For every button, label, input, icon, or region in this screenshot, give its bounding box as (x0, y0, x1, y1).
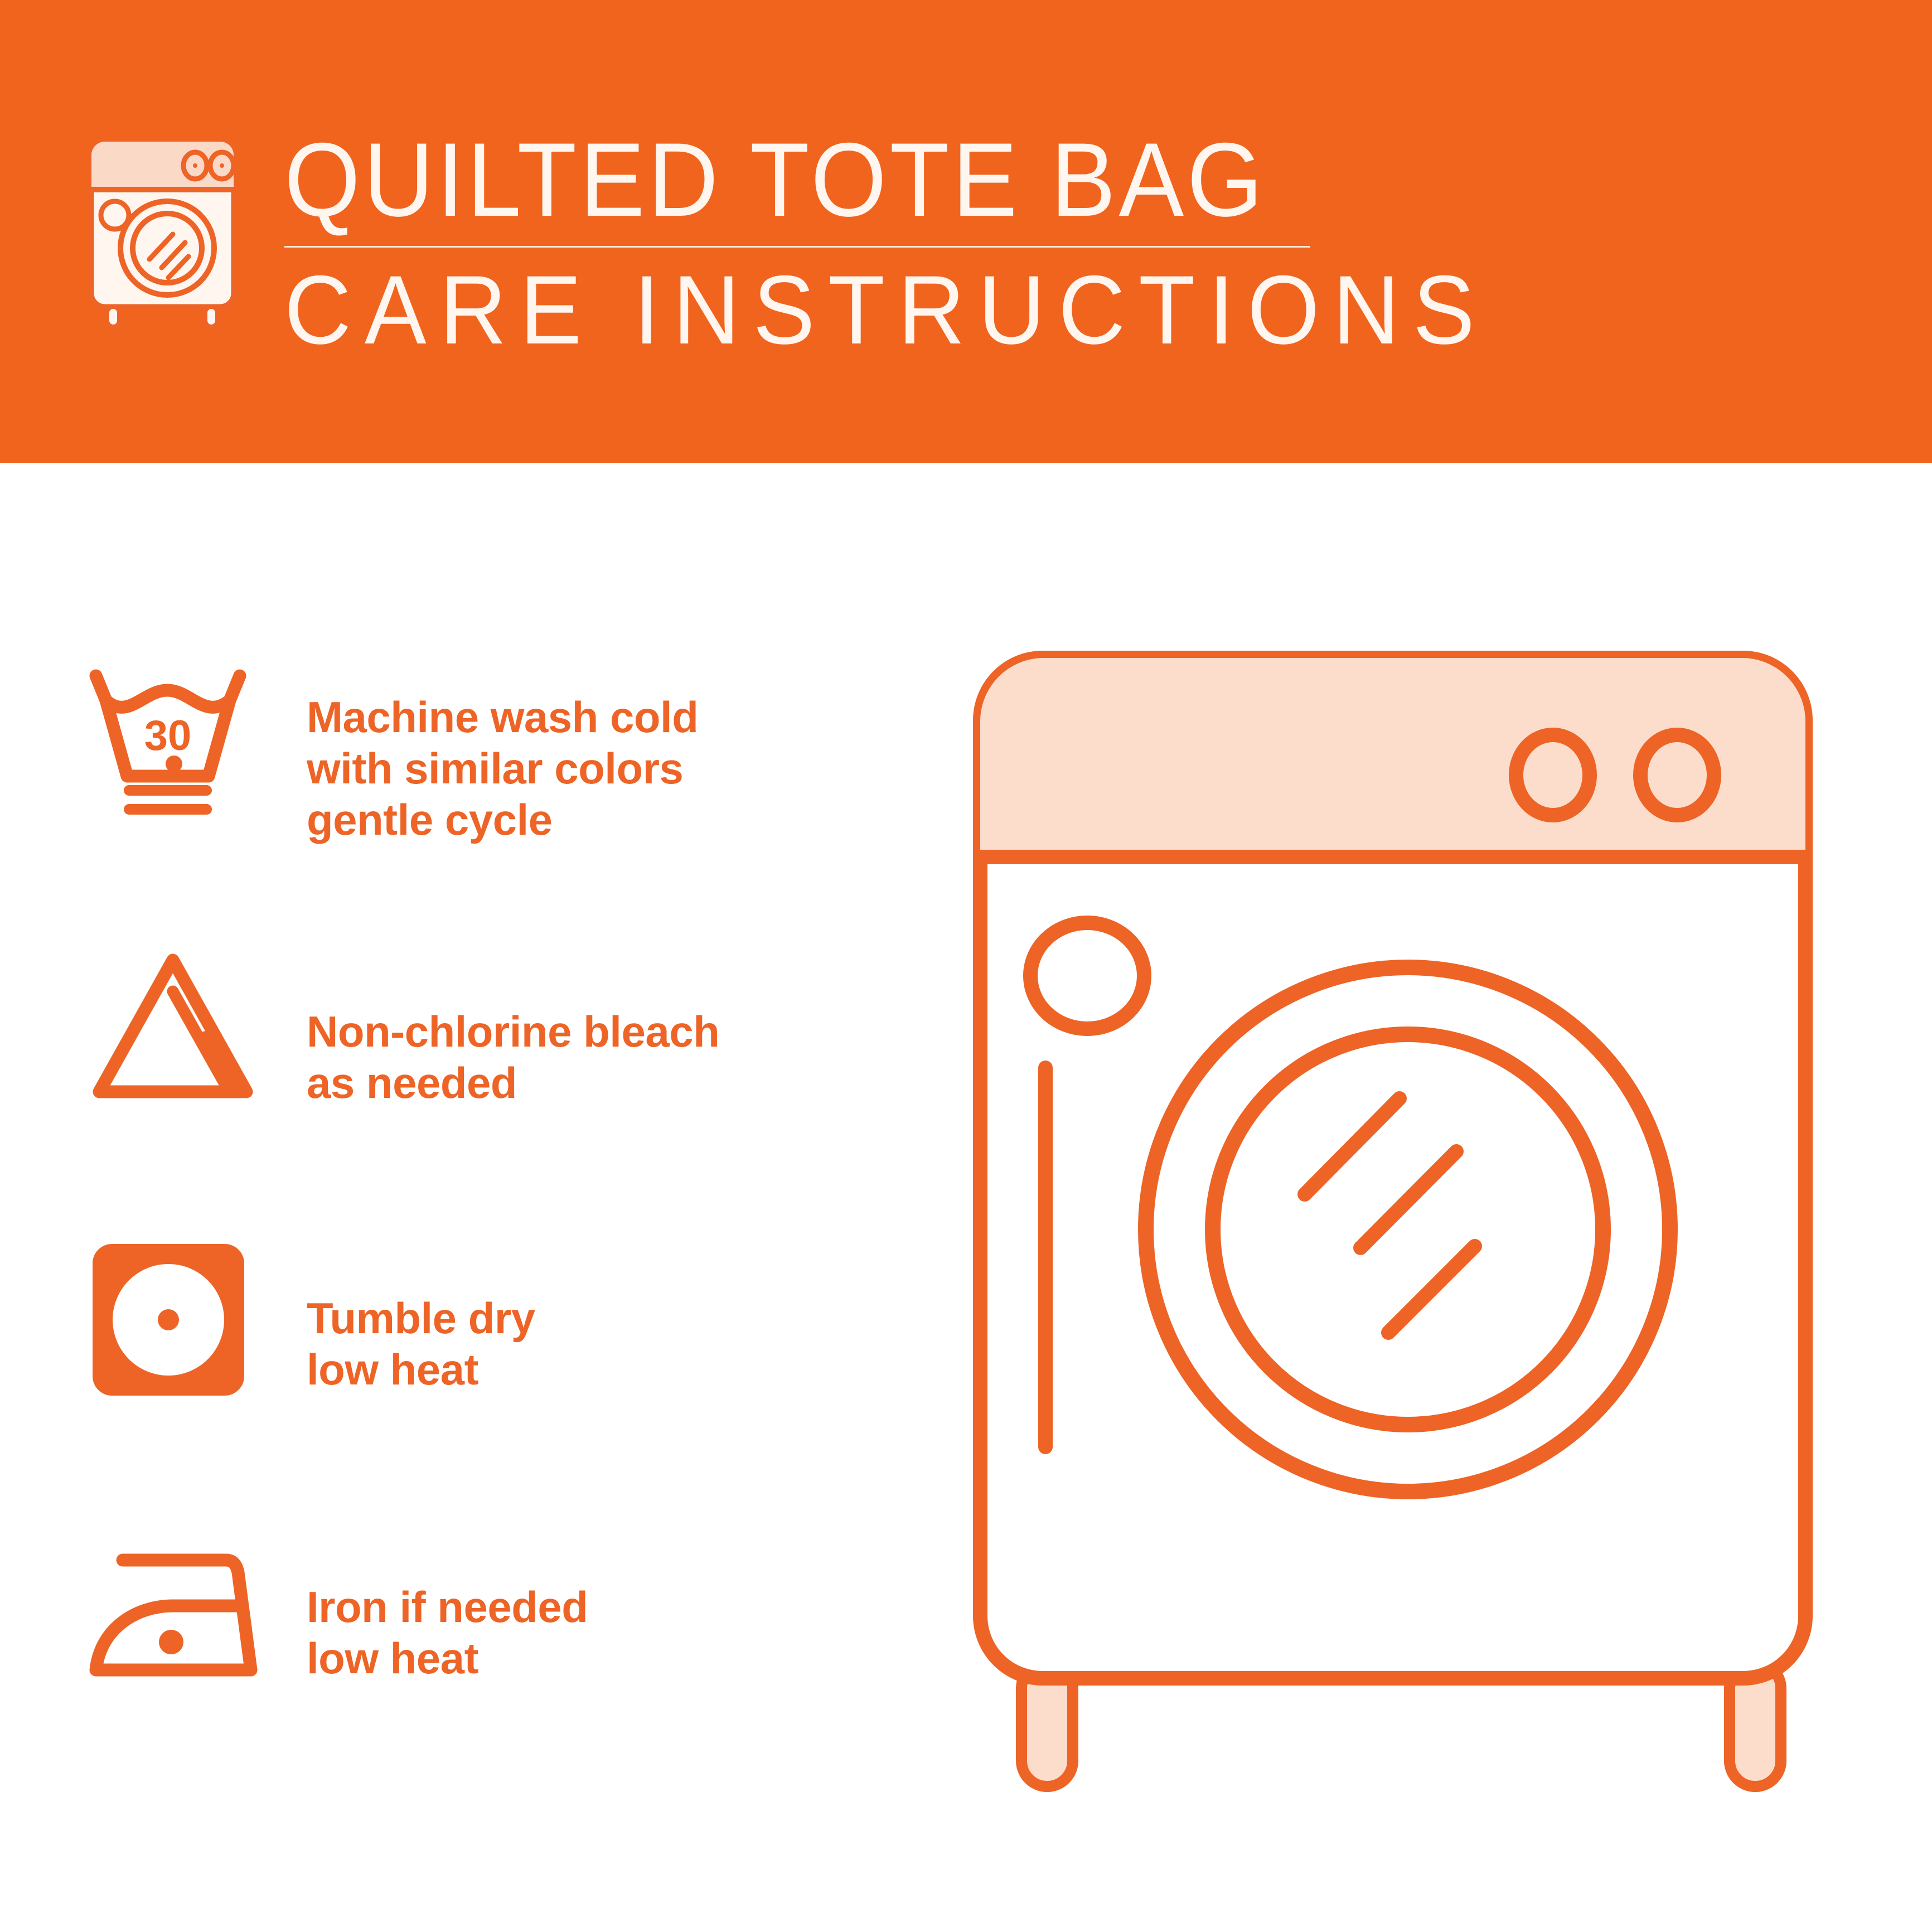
care-item-machine-wash: 30 Machine wash cold with similar colors… (84, 658, 909, 948)
care-item-bleach: Non-chlorine bleach as needed (84, 948, 909, 1238)
page-title: QUILTED TOTE BAG (284, 128, 1463, 231)
iron-low-heat-icon (84, 1528, 307, 1695)
care-item-label: Machine wash cold with similar colors ge… (307, 658, 909, 845)
washing-machine-icon (84, 134, 245, 329)
care-item-iron: Iron if needed low heat (84, 1528, 909, 1818)
header-content: QUILTED TOTE BAG CARE INSTRUCTIONS (84, 125, 1338, 360)
svg-text:30: 30 (144, 712, 192, 759)
care-item-tumble-dry: Tumble dry low heat (84, 1238, 909, 1528)
tumble-dry-low-heat-icon (84, 1238, 307, 1405)
care-item-label: Iron if needed low heat (307, 1528, 909, 1684)
header-titles: QUILTED TOTE BAG CARE INSTRUCTIONS (284, 125, 1551, 360)
care-instruction-list: 30 Machine wash cold with similar colors… (84, 658, 909, 1818)
care-item-label: Tumble dry low heat (307, 1238, 909, 1395)
page-subtitle: CARE INSTRUCTIONS (284, 261, 1488, 360)
control-knob (1516, 735, 1590, 815)
bleach-triangle-non-chlorine-icon (84, 948, 307, 1115)
header-banner: QUILTED TOTE BAG CARE INSTRUCTIONS (0, 0, 1932, 463)
front-load-washing-machine-illustration (948, 624, 1896, 1818)
control-knob (1640, 735, 1714, 815)
wash-basin-30-gentle-icon: 30 (84, 658, 307, 825)
care-item-label: Non-chlorine bleach as needed (307, 948, 909, 1108)
title-divider (284, 246, 1310, 248)
